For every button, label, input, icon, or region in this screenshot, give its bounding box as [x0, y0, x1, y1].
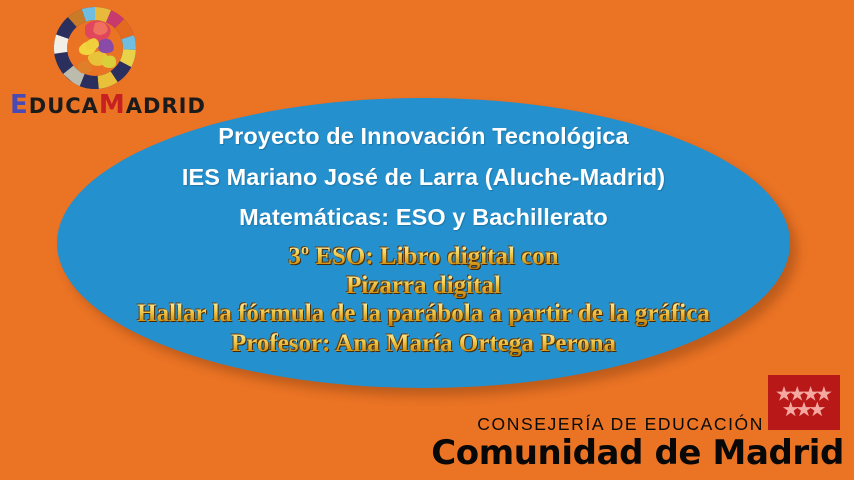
educamadrid-globe-icon: [51, 4, 139, 92]
blue-ellipse-panel: Proyecto de Innovación Tecnológica IES M…: [57, 98, 790, 388]
ellipse-text-group: Proyecto de Innovación Tecnológica IES M…: [57, 98, 790, 388]
whiteboard-line: Pizarra digital: [57, 273, 790, 298]
course-resource-line: 3º ESO: Libro digital con: [57, 244, 790, 269]
subject-level-line: Matemáticas: ESO y Bachillerato: [57, 206, 790, 230]
consejeria-label: CONSEJERÍA DE EDUCACIÓN: [477, 414, 764, 435]
comunidad-de-madrid-title: Comunidad de Madrid: [431, 433, 844, 473]
school-name-line: IES Mariano José de Larra (Aluche-Madrid…: [57, 166, 790, 190]
madrid-flag-icon: [768, 375, 840, 430]
lesson-topic-line: Hallar la fórmula de la parábola a parti…: [57, 301, 790, 326]
slide-canvas: EDUCAMADRID Proyecto de Innovación Tecno…: [0, 0, 854, 480]
teacher-name-line: Profesor: Ana María Ortega Perona: [57, 331, 790, 356]
comunidad-de-madrid-branding: CONSEJERÍA DE EDUCACIÓN Comunidad de Mad…: [446, 375, 846, 475]
wordmark-letter-e: E: [10, 90, 29, 120]
project-title-line: Proyecto de Innovación Tecnológica: [57, 125, 790, 149]
